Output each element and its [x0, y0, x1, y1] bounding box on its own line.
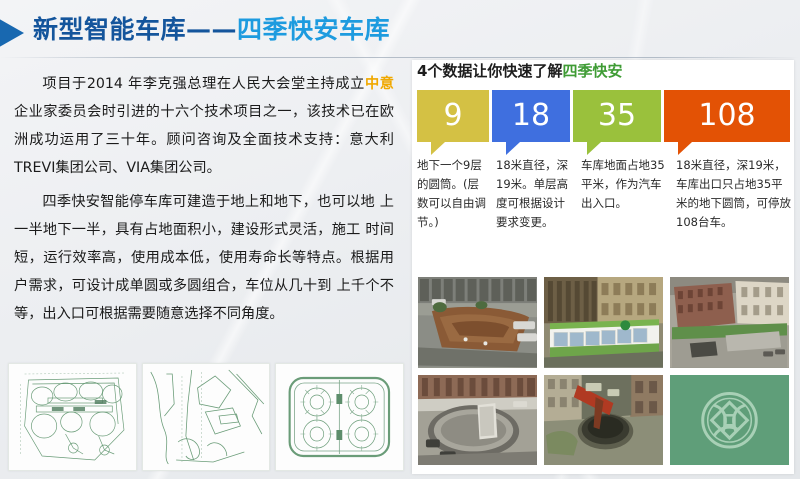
stat-number: 108: [698, 101, 755, 131]
stat-description-35: 车库地面占地35平米，作为汽车出入口。: [581, 156, 673, 238]
right-info-panel: 4个数据让你快速了解四季快安 9 18 35 108 地下一个9层的圆筒。(层数…: [412, 60, 794, 474]
panel-title-brand: 四季快安: [562, 62, 622, 80]
body-paragraph-1: 项目于2014 年李克强总理在人民大会堂主持成立中意企业家委员会时引进的十六个技…: [0, 70, 408, 182]
highlight-zhongyi: 中意: [365, 76, 394, 92]
photo-plaza-svg: [418, 375, 537, 466]
stat-number: 18: [512, 101, 550, 131]
stat-bubble-tail: [678, 142, 692, 155]
photo-excavation-site[interactable]: [417, 276, 538, 369]
photo-excavation-svg: [418, 277, 537, 368]
diagram-gallery: [8, 363, 404, 471]
page-title-sub: 四季快安车库: [237, 15, 390, 44]
site-plan-drawing-2[interactable]: [142, 363, 271, 471]
stat-descriptions-row: 地下一个9层的圆筒。(层数可以自由调节。) 18米直径，深19米。单层高度可根据…: [417, 156, 795, 238]
company-emblem-icon: [670, 375, 789, 466]
photo-courtyard-svg: [670, 277, 789, 368]
stat-description-18: 18米直径，深19米。单层高度可根据设计要求变更。: [496, 156, 578, 238]
stat-description-108: 18米直径，深19米，车库出口只占地35平米的地下圆筒，可停放108台车。: [676, 156, 795, 238]
stat-number: 9: [443, 101, 462, 131]
page-title: 新型智能车库——四季快安车库: [33, 17, 390, 42]
stat-bubble-tail: [506, 142, 520, 155]
photo-aerial-courtyard[interactable]: [669, 276, 790, 369]
photo-gallery: [417, 276, 790, 466]
stat-block-9[interactable]: 9: [417, 90, 489, 142]
header-divider: [0, 57, 800, 58]
body-paragraph-2: 四季快安智能停车库可建造于地上和地下，也可以地 上一半地下一半，具有占地面积小，…: [0, 188, 408, 328]
stats-row: 9 18 35 108: [417, 90, 790, 142]
left-content-column: 项目于2014 年李克强总理在人民大会堂主持成立中意企业家委员会时引进的十六个技…: [0, 62, 408, 362]
photo-shaft-svg: [544, 375, 663, 466]
site-plan-drawing-3[interactable]: [275, 363, 404, 471]
logo-panel[interactable]: [669, 374, 790, 467]
photo-shaft-drilling[interactable]: [543, 374, 664, 467]
panel-title: 4个数据让你快速了解四季快安: [417, 64, 622, 79]
site-plan-3-svg: [276, 364, 403, 470]
stat-block-18[interactable]: 18: [492, 90, 570, 142]
arrow-right-icon: [0, 16, 24, 50]
stat-description-9: 地下一个9层的圆筒。(层数可以自由调节。): [417, 156, 493, 238]
stat-number: 35: [598, 101, 636, 131]
stat-block-35[interactable]: 35: [573, 90, 661, 142]
slide: 新型智能车库——四季快安车库 项目于2014 年李克强总理在人民大会堂主持成立中…: [0, 0, 800, 479]
stat-block-108[interactable]: 108: [664, 90, 790, 142]
paragraph-1-text-a: 项目于2014 年李克强总理在人民大会堂主持成立: [42, 76, 365, 92]
panel-title-text: 4个数据让你快速了解: [417, 62, 562, 80]
slide-header: 新型智能车库——四季快安车库: [0, 0, 800, 60]
paragraph-1-text-b: 企业家委员会时引进的十六个技术项目之一，该技术已在欧洲成功运用了三十年。顾问咨询…: [14, 104, 394, 176]
photo-construction-enclosure[interactable]: [543, 276, 664, 369]
site-plan-2-svg: [143, 364, 270, 470]
stat-bubble-tail: [431, 142, 445, 155]
site-plan-1-svg: [9, 364, 136, 470]
photo-circular-plaza[interactable]: [417, 374, 538, 467]
page-title-main: 新型智能车库——: [33, 15, 237, 44]
stat-bubble-tail: [587, 142, 601, 155]
site-plan-drawing-1[interactable]: [8, 363, 137, 471]
photo-enclosure-svg: [544, 277, 663, 368]
